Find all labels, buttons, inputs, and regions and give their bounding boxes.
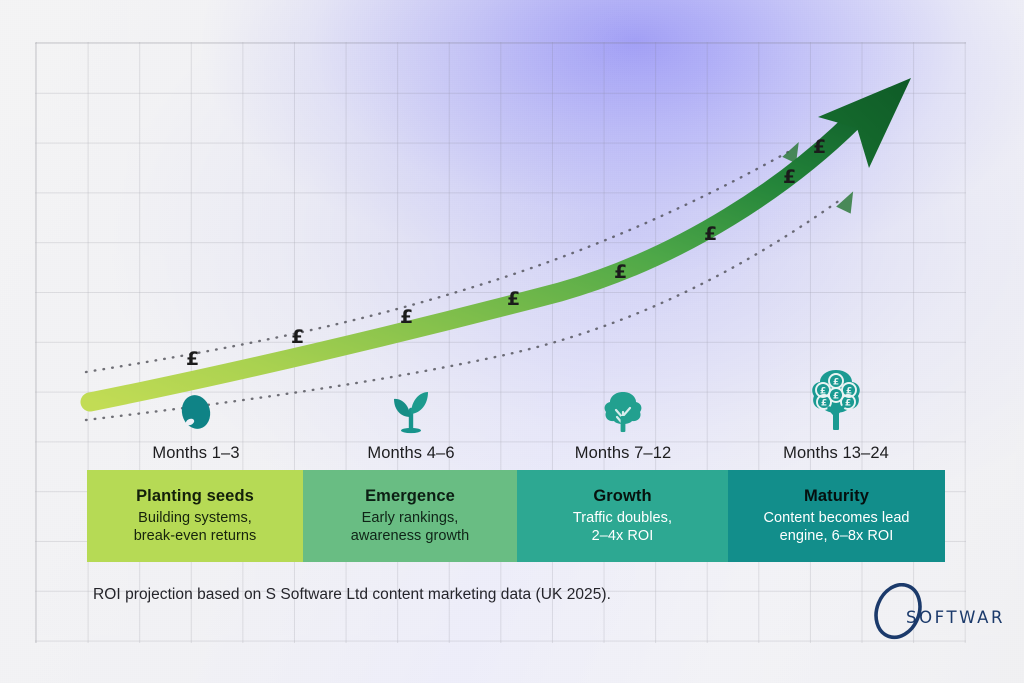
stage-segment-maturity[interactable]: Maturity Content becomes lead engine, 6–… xyxy=(728,470,945,562)
logo-wordmark: SOFTWARE xyxy=(906,608,1004,627)
stage-title: Growth xyxy=(593,487,651,505)
svg-text:£: £ xyxy=(821,399,827,409)
month-label-stage-1: Months 1–3 xyxy=(152,444,239,463)
value-marker-pound-8: £ xyxy=(813,138,826,157)
svg-text:£: £ xyxy=(833,378,839,388)
sprout-icon xyxy=(388,386,434,439)
stage-description-line-1: Early rankings, xyxy=(362,509,459,527)
value-marker-pound-6: £ xyxy=(704,225,717,244)
source-caption: ROI projection based on S Software Ltd c… xyxy=(93,586,611,604)
month-label-stage-4: Months 13–24 xyxy=(783,444,889,463)
tree-icon xyxy=(600,386,646,439)
stage-description-line-2: awareness growth xyxy=(351,527,469,545)
upper-confidence-band xyxy=(86,142,801,372)
value-marker-pound-4: £ xyxy=(507,290,520,309)
svg-text:£: £ xyxy=(820,387,826,397)
svg-text:£: £ xyxy=(846,387,852,397)
stage-title: Planting seeds xyxy=(136,487,254,505)
growth-arrow xyxy=(90,78,911,402)
money-tree-icon: £ £ £ £ £ £ xyxy=(805,366,867,437)
value-marker-pound-2: £ xyxy=(291,328,304,347)
roi-growth-chart xyxy=(0,0,1024,683)
value-marker-pound-7: £ xyxy=(783,168,796,187)
stage-description-line-1: Content becomes lead xyxy=(763,509,909,527)
stage-segment-emergence[interactable]: Emergence Early rankings, awareness grow… xyxy=(303,470,517,562)
stage-description-line-2: engine, 6–8x ROI xyxy=(780,527,894,545)
stage-title: Maturity xyxy=(804,487,869,505)
stage-description-line-2: break-even returns xyxy=(134,527,257,545)
stage-description-line-1: Building systems, xyxy=(138,509,252,527)
company-logo[interactable]: SOFTWARE xyxy=(862,583,1004,645)
seed-icon xyxy=(176,388,216,437)
value-marker-pound-1: £ xyxy=(186,350,199,369)
value-marker-pound-3: £ xyxy=(400,308,413,327)
infographic-canvas: £ £ £ £ £ £ £ £ xyxy=(0,0,1024,683)
stage-segment-planting-seeds[interactable]: Planting seeds Building systems, break-e… xyxy=(87,470,303,562)
month-label-stage-2: Months 4–6 xyxy=(367,444,454,463)
stage-banner: Planting seeds Building systems, break-e… xyxy=(87,470,945,562)
stage-description-line-2: 2–4x ROI xyxy=(592,527,654,545)
stage-segment-growth[interactable]: Growth Traffic doubles, 2–4x ROI xyxy=(517,470,728,562)
month-label-stage-3: Months 7–12 xyxy=(575,444,672,463)
stage-description-line-1: Traffic doubles, xyxy=(573,509,672,527)
svg-text:£: £ xyxy=(845,399,851,409)
svg-text:£: £ xyxy=(833,392,839,402)
value-marker-pound-5: £ xyxy=(614,263,627,282)
stage-title: Emergence xyxy=(365,487,455,505)
